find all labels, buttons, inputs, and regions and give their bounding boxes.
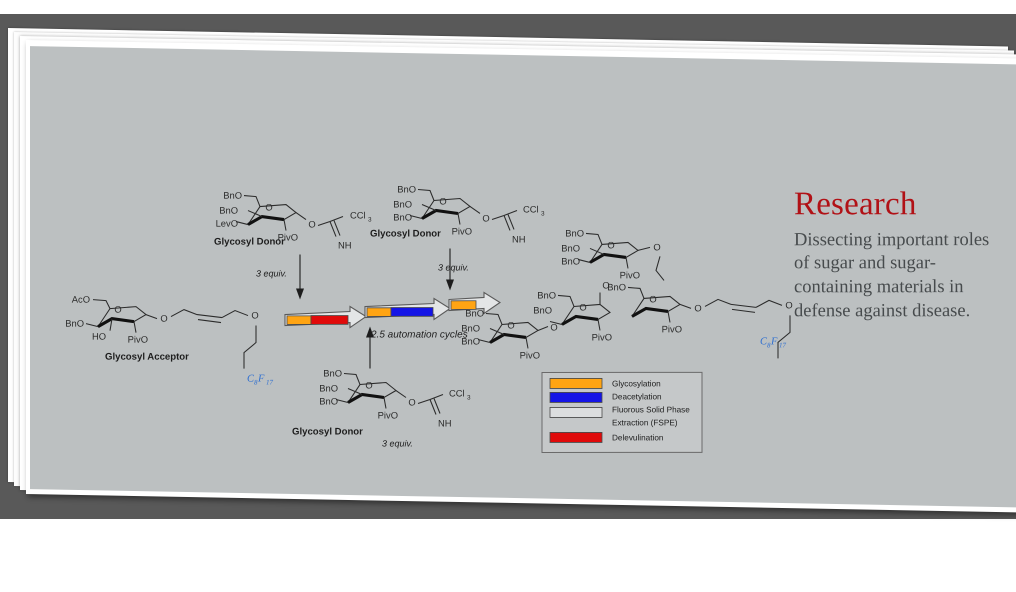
productA-sub-pivo: PivO bbox=[520, 349, 540, 360]
productC-sub-bno-3: BnO bbox=[561, 255, 580, 266]
donor2-anomeric-oxygen: O bbox=[482, 212, 489, 223]
donor2-equiv: 3 equiv. bbox=[438, 262, 469, 272]
slide-canvas: Research Dissecting important roles of s… bbox=[30, 46, 1016, 507]
donor2-leaving-group: CCl bbox=[523, 203, 539, 214]
glycosyl-acceptor-structure: O AcO BnO HO PivO O bbox=[65, 294, 273, 387]
slide-stack: Research Dissecting important roles of s… bbox=[0, 0, 1016, 592]
acceptor-fluorous-sub17: 17 bbox=[266, 379, 274, 387]
donor2-sub-bno-3: BnO bbox=[393, 212, 412, 223]
donor3-sub-bno-2: BnO bbox=[319, 383, 338, 394]
product-linker-oxygen-2: O bbox=[785, 299, 792, 310]
donor1-imidate-nh: NH bbox=[338, 240, 352, 251]
donor2-sub-pivo: PivO bbox=[452, 225, 472, 236]
legend-label-deacetylation: Deacetylation bbox=[612, 392, 662, 401]
productC-ring-oxygen: O bbox=[607, 239, 614, 250]
step2-segment-deacetylation bbox=[391, 307, 433, 316]
legend-swatch-deacetylation bbox=[550, 392, 602, 402]
acceptor-sub-aco: AcO bbox=[72, 294, 90, 305]
acceptor-linker-oxygen-2: O bbox=[251, 310, 258, 321]
productB-ring-oxygen: O bbox=[579, 301, 586, 312]
legend-label-delevulination: Delevulination bbox=[612, 433, 664, 442]
acceptor-sub-pivo: PivO bbox=[128, 334, 148, 345]
donor3-anomeric-oxygen: O bbox=[408, 397, 415, 408]
automation-cycles-label: 2.5 automation cycles bbox=[370, 329, 468, 340]
productA-sub-bno-3: BnO bbox=[461, 335, 480, 346]
glycosyl-donor-top-left: O BnO BnO LevO PivO O CC bbox=[214, 190, 372, 300]
donor3-ring-oxygen: O bbox=[365, 380, 372, 391]
acceptor-sub-bno: BnO bbox=[65, 318, 84, 329]
donor1-anomeric-oxygen: O bbox=[308, 219, 315, 230]
donor1-arrow-head bbox=[296, 289, 304, 300]
donor1-leaving-group-sub: 3 bbox=[368, 217, 372, 224]
donor1-label: Glycosyl Donor bbox=[214, 237, 285, 248]
acceptor-fluorous-f: F bbox=[257, 374, 265, 385]
step2-segment-glycosylation bbox=[367, 308, 391, 317]
slide-page[interactable]: Research Dissecting important roles of s… bbox=[26, 40, 1016, 513]
productA-sub-bno-1: BnO bbox=[465, 307, 484, 318]
productB-sub-pivo: PivO bbox=[592, 331, 612, 342]
donor3-sub-bno-3: BnO bbox=[319, 396, 338, 407]
donor3-sub-bno-1: BnO bbox=[323, 368, 342, 379]
automation-step-2 bbox=[365, 298, 450, 319]
productA-ring-oxygen: O bbox=[507, 319, 514, 330]
donor1-sub-levo: LevO bbox=[216, 218, 238, 229]
product-fluorous-f: F bbox=[770, 336, 778, 347]
productD-ring-oxygen: O bbox=[649, 293, 656, 304]
product-linker-oxygen-1: O bbox=[694, 302, 701, 313]
donor3-leaving-group-sub: 3 bbox=[467, 394, 471, 401]
donor2-ring-oxygen: O bbox=[439, 195, 446, 206]
acceptor-sub-ho: HO bbox=[92, 331, 106, 342]
step1-segment-delevulination bbox=[311, 316, 348, 325]
productA-sub-bno-2: BnO bbox=[461, 322, 480, 333]
product-structure: O BnO BnO BnO PivO O bbox=[461, 227, 792, 360]
donor2-arrow-head bbox=[446, 279, 454, 290]
legend-swatch-glycosylation bbox=[550, 378, 602, 388]
donor1-sub-bno-1: BnO bbox=[223, 190, 242, 201]
donor1-sub-bno-2: BnO bbox=[219, 205, 238, 216]
acceptor-linker-oxygen-1: O bbox=[160, 313, 167, 324]
step1-segment-glycosylation bbox=[287, 316, 311, 325]
productB-sub-bno-1: BnO bbox=[537, 289, 556, 300]
productC-sub-pivo: PivO bbox=[620, 269, 640, 280]
donor3-leaving-group: CCl bbox=[449, 387, 465, 398]
product-glycosidic-oxygen-3: O bbox=[653, 241, 660, 252]
donor2-sub-bno-2: BnO bbox=[393, 199, 412, 210]
research-text-block: Research Dissecting important roles of s… bbox=[794, 187, 1009, 323]
glycosyl-acceptor-label: Glycosyl Acceptor bbox=[105, 352, 189, 363]
acceptor-ring-oxygen: O bbox=[114, 304, 121, 315]
screenshot-root: Research Dissecting important roles of s… bbox=[0, 0, 1016, 592]
donor2-sub-bno-1: BnO bbox=[397, 184, 416, 195]
automation-step-1 bbox=[285, 307, 366, 328]
donor1-leaving-group: CCl bbox=[350, 210, 366, 221]
page-title: Research bbox=[794, 187, 1009, 222]
legend-box: Glycosylation Deacetylation Fluorous Sol… bbox=[542, 372, 702, 452]
product-fluorous-sub17: 17 bbox=[779, 341, 787, 349]
legend-label-fspe-line1: Fluorous Solid Phase bbox=[612, 405, 690, 414]
legend-label-fspe-line2: Extraction (FSPE) bbox=[612, 418, 678, 427]
productD-sub-bno: BnO bbox=[607, 281, 626, 292]
productB-sub-bno-2: BnO bbox=[533, 304, 552, 315]
productC-sub-bno-1: BnO bbox=[565, 227, 584, 238]
donor1-ring-oxygen: O bbox=[265, 202, 272, 213]
glycosyl-donor-bottom: O BnO BnO BnO PivO O CCl bbox=[292, 326, 471, 448]
reaction-scheme: O AcO BnO HO PivO O bbox=[60, 167, 790, 481]
donor2-label: Glycosyl Donor bbox=[370, 228, 441, 239]
donor2-leaving-group-sub: 3 bbox=[541, 210, 545, 217]
donor3-equiv: 3 equiv. bbox=[382, 439, 413, 449]
research-description: Dissecting important roles of sugar and … bbox=[794, 229, 1009, 324]
legend-swatch-delevulination bbox=[550, 432, 602, 442]
donor2-imidate-nh: NH bbox=[512, 233, 526, 244]
donor3-imidate-nh: NH bbox=[438, 417, 452, 428]
legend-swatch-fspe bbox=[550, 407, 602, 417]
donor3-label: Glycosyl Donor bbox=[292, 427, 363, 438]
glycosyl-donor-top-right: O BnO BnO BnO PivO O CCl bbox=[370, 183, 545, 290]
legend-label-glycosylation: Glycosylation bbox=[612, 379, 661, 388]
productD-sub-pivo: PivO bbox=[662, 323, 682, 334]
donor1-equiv: 3 equiv. bbox=[256, 269, 287, 279]
productC-sub-bno-2: BnO bbox=[561, 242, 580, 253]
donor3-sub-pivo: PivO bbox=[378, 410, 398, 421]
